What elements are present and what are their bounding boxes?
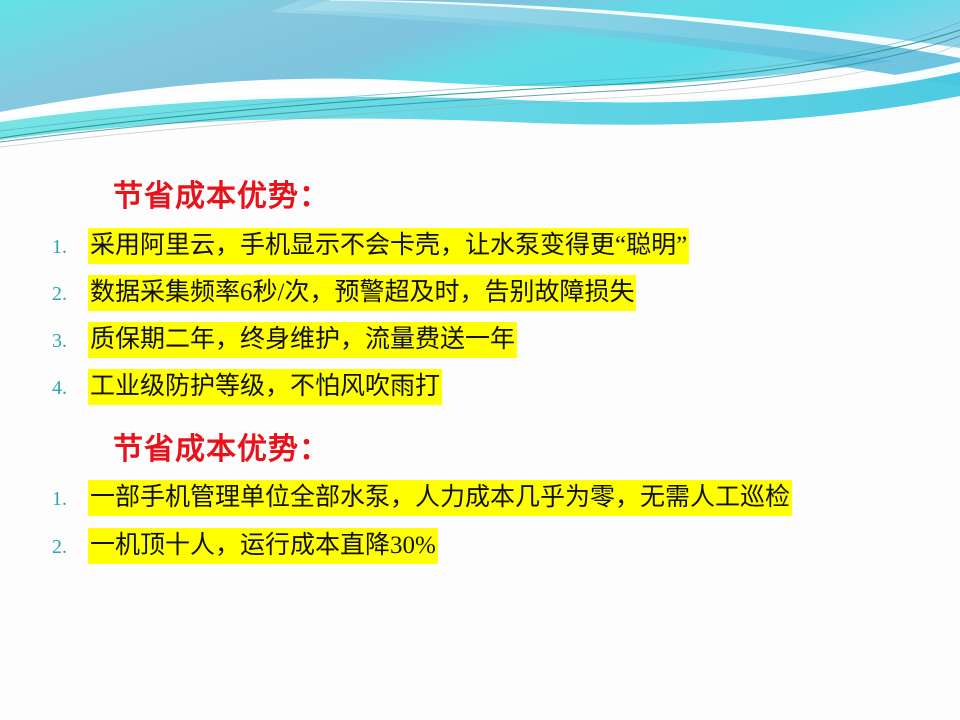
list-marker: 2. — [52, 283, 82, 306]
list-marker: 1. — [52, 488, 82, 511]
section-1-heading: 节省成本优势： — [113, 171, 330, 215]
list-item-text: 质保期二年，终身维护，流量费送一年 — [88, 322, 517, 358]
list-marker: 2. — [52, 536, 82, 559]
list-marker: 3. — [52, 330, 82, 353]
presentation-slide: 节省成本优势： 1. 采用阿里云，手机显示不会卡壳，让水泵变得更“聪明” 2. … — [0, 0, 960, 720]
list-item-text: 一机顶十人，运行成本直降30% — [88, 528, 438, 564]
list-item-text: 数据采集频率6秒/次，预警超及时，告别故障损失 — [88, 275, 636, 311]
list-item-text: 一部手机管理单位全部水泵，人力成本几乎为零，无需人工巡检 — [88, 480, 792, 516]
section-2-heading: 节省成本优势： — [113, 424, 330, 468]
list-marker: 4. — [52, 377, 82, 400]
list-item-text: 采用阿里云，手机显示不会卡壳，让水泵变得更“聪明” — [88, 228, 689, 264]
list-marker: 1. — [52, 236, 82, 259]
slide-content: 节省成本优势： 1. 采用阿里云，手机显示不会卡壳，让水泵变得更“聪明” 2. … — [0, 0, 960, 720]
list-item-text: 工业级防护等级，不怕风吹雨打 — [88, 369, 442, 405]
